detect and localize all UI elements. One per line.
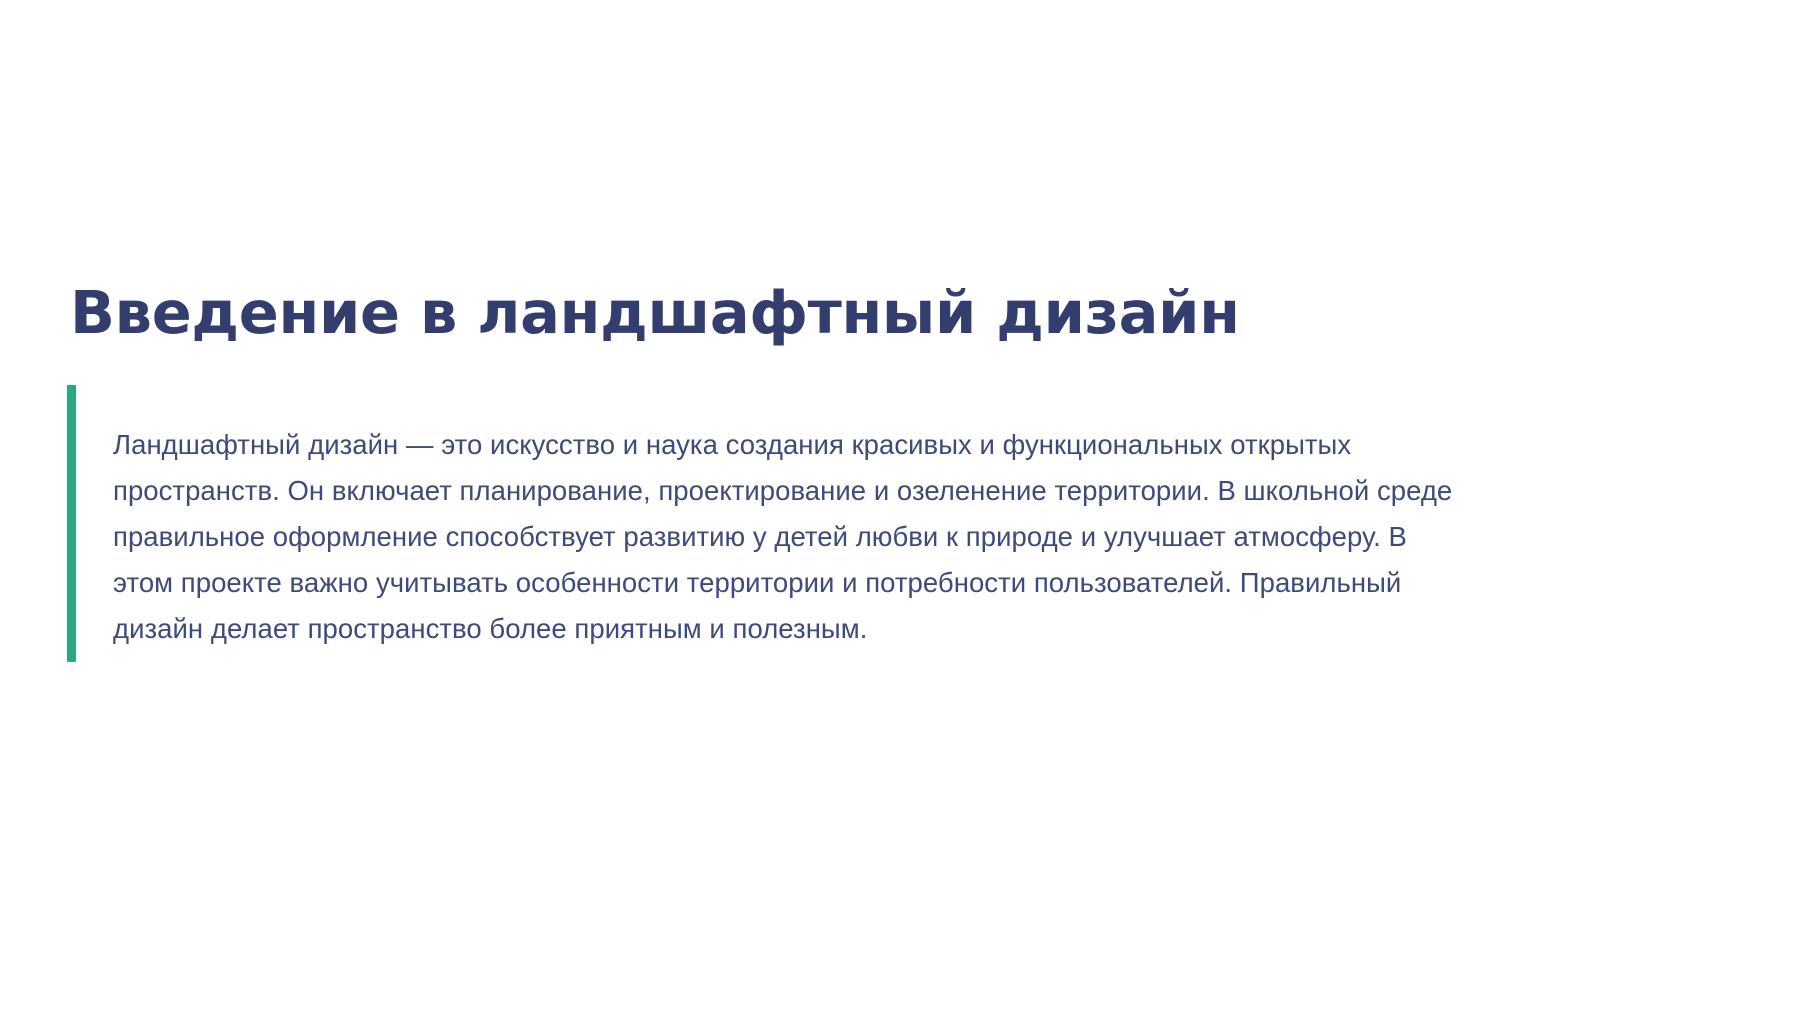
body-block: Ландшафтный дизайн — это искусство и нау… xyxy=(67,385,1687,662)
body-paragraph: Ландшафтный дизайн — это искусство и нау… xyxy=(113,422,1473,652)
page-title: Введение в ландшафтный дизайн xyxy=(70,277,1730,349)
slide-canvas: Введение в ландшафтный дизайн Ландшафтны… xyxy=(0,0,1800,1013)
accent-bar xyxy=(67,385,76,662)
body-text-container: Ландшафтный дизайн — это искусство и нау… xyxy=(76,385,1687,662)
